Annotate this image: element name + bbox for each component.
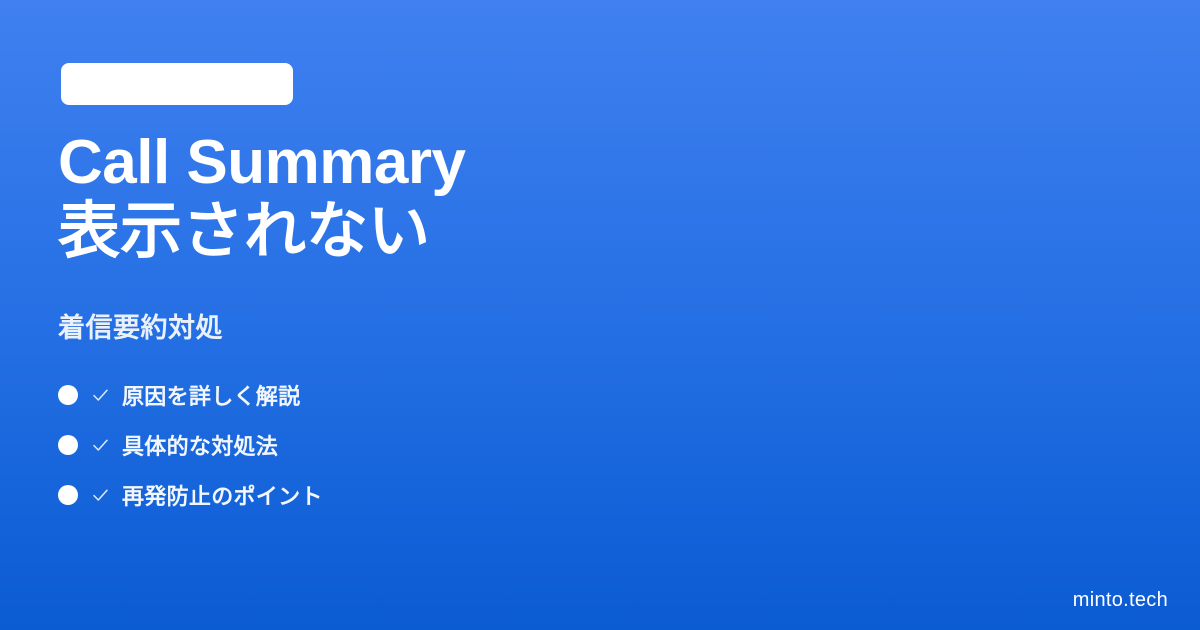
bullet-dot-icon: [58, 385, 78, 405]
feature-list: 原因を詳しく解説 具体的な対処法 再発防止のポイント: [58, 378, 323, 512]
page-title-line-2: 表示されない: [58, 197, 1058, 266]
category-badge: [61, 63, 293, 105]
check-icon: [92, 487, 109, 504]
list-item: 具体的な対処法: [58, 428, 323, 462]
list-item: 原因を詳しく解説: [58, 378, 323, 412]
brand-label: minto.tech: [1073, 589, 1168, 612]
bullet-dot-icon: [58, 485, 78, 505]
og-card: Call Summary 表示されない 着信要約対処 原因を詳しく解説 具体的な…: [0, 0, 1200, 630]
page-subtitle: 着信要約対処: [58, 306, 223, 345]
page-title-line-1: Call Summary: [58, 128, 1058, 197]
list-item-label: 具体的な対処法: [122, 429, 278, 461]
bullet-dot-icon: [58, 435, 78, 455]
list-item: 再発防止のポイント: [58, 478, 323, 512]
check-icon: [92, 387, 109, 404]
list-item-label: 原因を詳しく解説: [122, 379, 300, 411]
check-icon: [92, 437, 109, 454]
page-title: Call Summary 表示されない: [58, 128, 1058, 267]
list-item-label: 再発防止のポイント: [122, 479, 323, 511]
